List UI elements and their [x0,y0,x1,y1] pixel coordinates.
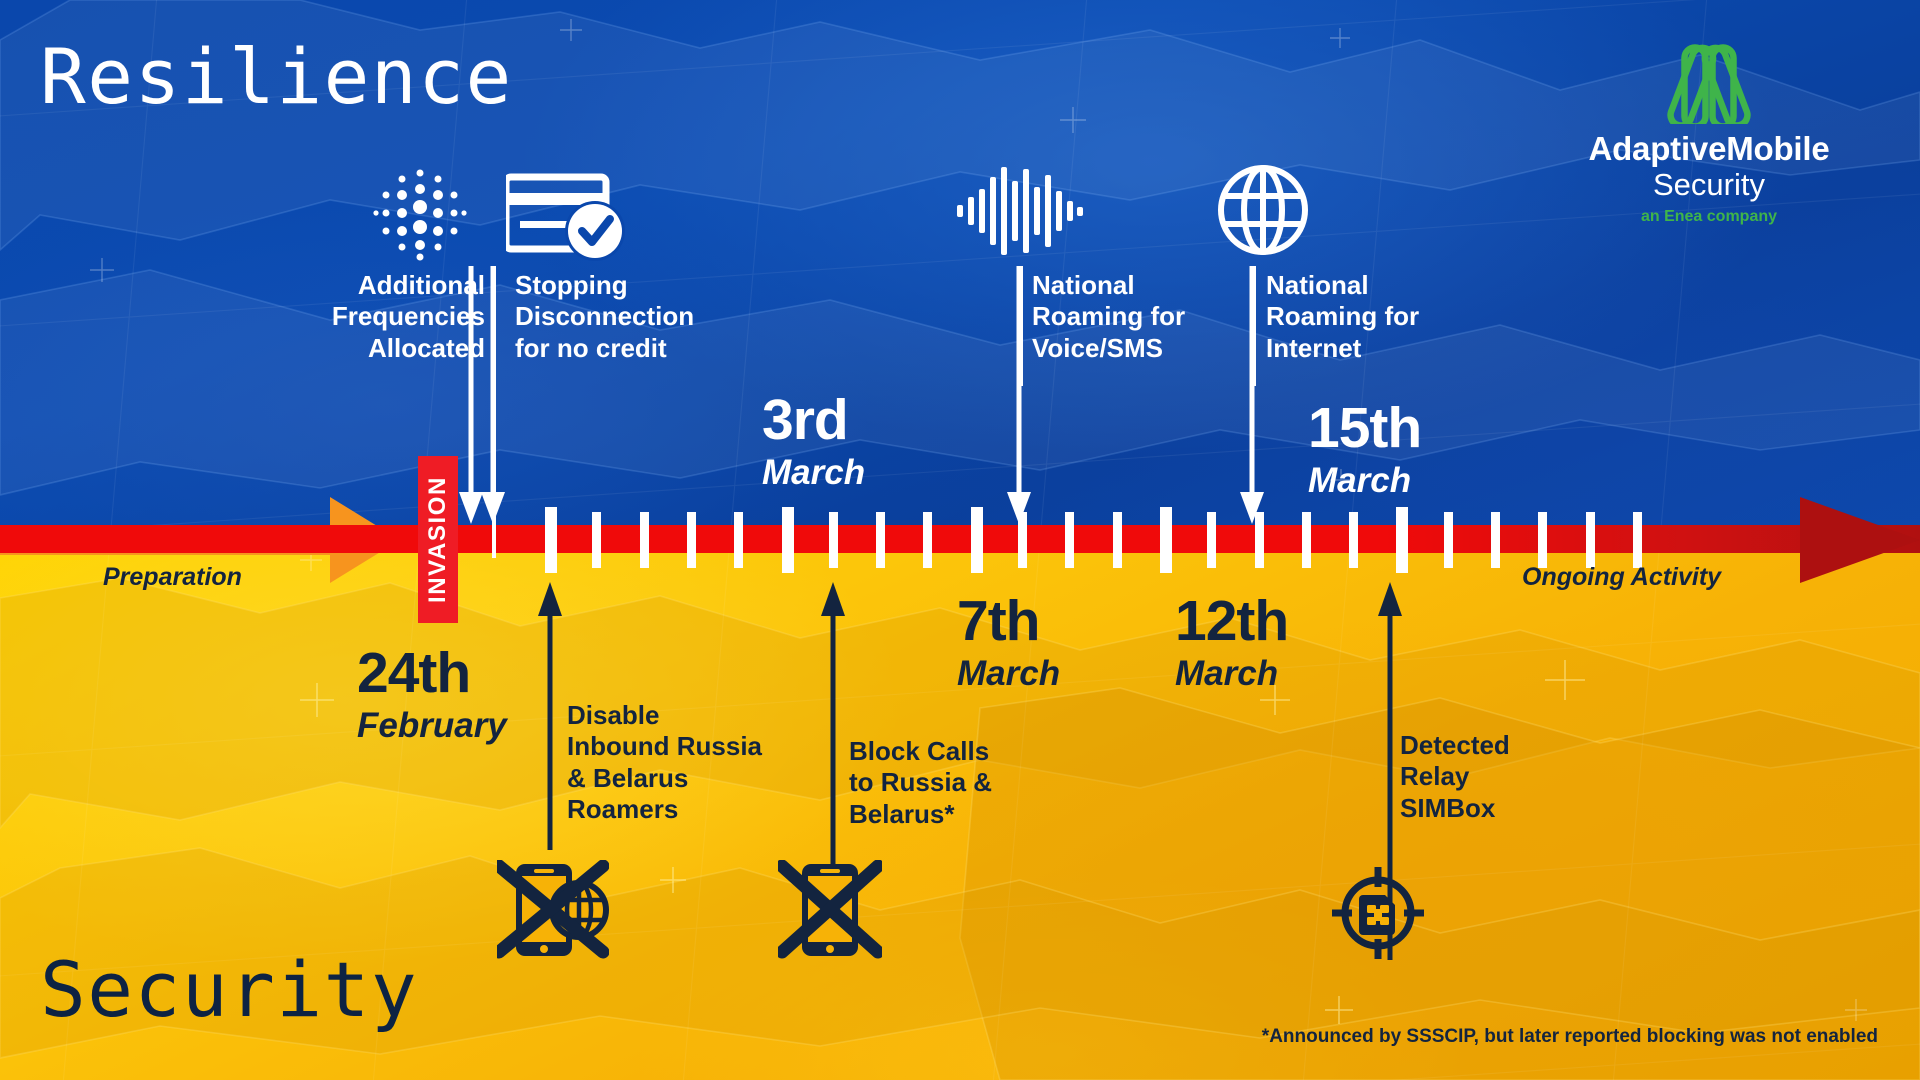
callout-stopping-disconnection: Stopping Disconnection for no credit [515,270,745,364]
datestamp-day: 3rd [762,392,865,449]
divider-disable-inbound-roamers [548,700,552,846]
globe-icon [1216,163,1310,257]
timeline-tick [1302,512,1311,568]
timeline-tick [1633,512,1642,568]
timeline-tick [545,507,557,573]
connector-arrow-national-roaming-voice [1004,266,1034,526]
logo-tagline: an Enea company [1544,208,1874,226]
sim-target-icon [1330,865,1426,961]
datestamp-day: 7th [957,593,1060,650]
datestamp-day: 24th [357,645,507,702]
timeline-right-arrowhead [1800,497,1920,583]
timeline-tick [1113,512,1122,568]
timeline-tick [734,512,743,568]
timeline-tick [782,507,794,573]
timeline-tick [876,512,885,568]
infographic-canvas: Resilience Security AdaptiveMobile Secur… [0,0,1920,1080]
page-title-resilience: Resilience [40,32,513,121]
audio-waveform-icon [955,165,1085,255]
invasion-label: INVASION [424,476,452,603]
connector-arrow-national-roaming-internet [1237,266,1267,526]
logo-subtitle: Security [1544,167,1874,203]
callout-text: National Roaming for Voice/SMS [1032,270,1232,364]
footnote-text: *Announced by SSSCIP, but later reported… [1262,1026,1878,1048]
timeline-tick [1538,512,1547,568]
timeline-tick [829,512,838,568]
enea-triple-arch-icon [1653,28,1765,124]
phone-globe-blocked-icon [497,860,609,960]
callout-detected-relay-simbox: Detected Relay SIMBox [1400,730,1620,824]
callout-text: Detected Relay SIMBox [1400,730,1620,824]
timeline-tick [971,507,983,573]
timeline-tick [923,512,932,568]
timeline-tick [687,512,696,568]
callout-block-calls: Block Calls to Russia & Belarus* [849,736,1069,830]
callout-national-roaming-internet: National Roaming for Internet [1266,270,1466,364]
timeline-tick [1396,507,1408,573]
datestamp-3-march: 3rd March [762,392,865,490]
callout-text: National Roaming for Internet [1266,270,1466,364]
datestamp-month: February [357,708,507,743]
timeline-tick [1207,512,1216,568]
datestamp-12-march: 12th March [1175,593,1288,691]
datestamp-day: 12th [1175,593,1288,650]
datestamp-7-march: 7th March [957,593,1060,691]
connector-arrow-stopping-disconnection [478,266,508,526]
logo-name: AdaptiveMobile [1544,132,1874,167]
timeline-tick [1160,507,1172,573]
callout-text: Disable Inbound Russia & Belarus Roamers [567,700,817,826]
timeline-tick [1065,512,1074,568]
timeline-tick [1491,512,1500,568]
brand-logo: AdaptiveMobile Security an Enea company [1544,28,1874,226]
datestamp-month: March [762,455,865,490]
datestamp-15-march: 15th March [1308,400,1421,498]
invasion-marker: INVASION [418,456,458,623]
datestamp-month: March [957,656,1060,691]
timeline-tick [1349,512,1358,568]
datestamp-24-february: 24th February [357,645,507,743]
timeline-tick [640,512,649,568]
timeline-tick [1444,512,1453,568]
divider-block-calls [831,736,835,848]
datestamp-month: March [1308,463,1421,498]
phone-blocked-icon [778,860,882,960]
credit-card-check-icon [506,165,630,261]
callout-text: Stopping Disconnection for no credit [515,270,745,364]
datestamp-month: March [1175,656,1288,691]
timeline-tick [1586,512,1595,568]
callout-text: Block Calls to Russia & Belarus* [849,736,1069,830]
timeline-right-label: Ongoing Activity [1522,563,1721,592]
timeline-left-label: Preparation [103,563,242,592]
callout-disable-inbound-roamers: Disable Inbound Russia & Belarus Roamers [567,700,817,826]
callout-national-roaming-voice-sms: National Roaming for Voice/SMS [1032,270,1232,364]
page-title-security: Security [40,945,418,1034]
timeline-tick [592,512,601,568]
spectrum-dots-icon [372,165,468,261]
datestamp-day: 15th [1308,400,1421,457]
